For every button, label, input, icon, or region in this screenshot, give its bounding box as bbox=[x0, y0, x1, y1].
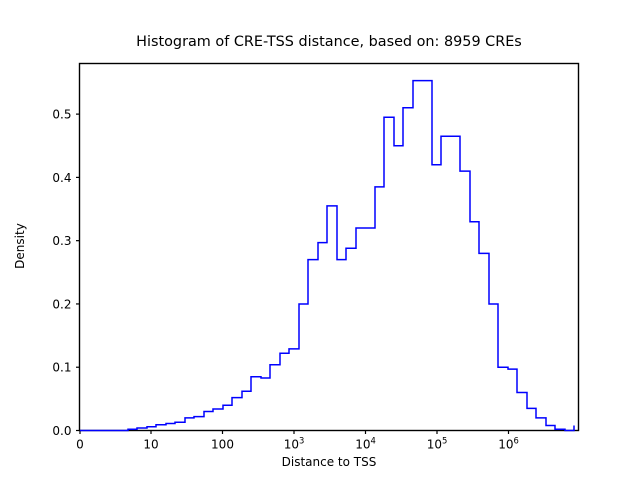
y-tick-label: 0.5 bbox=[52, 108, 71, 122]
plot-background bbox=[0, 0, 640, 480]
histogram-plot: Histogram of CRE-TSS distance, based on:… bbox=[0, 0, 640, 480]
y-tick-label: 0.3 bbox=[52, 234, 71, 248]
y-axis-label: Density bbox=[13, 223, 27, 269]
chart-title: Histogram of CRE-TSS distance, based on:… bbox=[136, 34, 522, 50]
x-tick-label: 100 bbox=[211, 438, 234, 452]
y-tick-label: 0.4 bbox=[52, 171, 71, 185]
x-axis-label: Distance to TSS bbox=[282, 455, 377, 469]
y-tick-label: 0.0 bbox=[52, 424, 71, 438]
x-tick-label: 10 bbox=[143, 438, 158, 452]
y-tick-label: 0.1 bbox=[52, 361, 71, 375]
x-tick-label: 0 bbox=[76, 438, 84, 452]
y-tick-label: 0.2 bbox=[52, 297, 71, 311]
figure-canvas: Histogram of CRE-TSS distance, based on:… bbox=[0, 0, 640, 480]
